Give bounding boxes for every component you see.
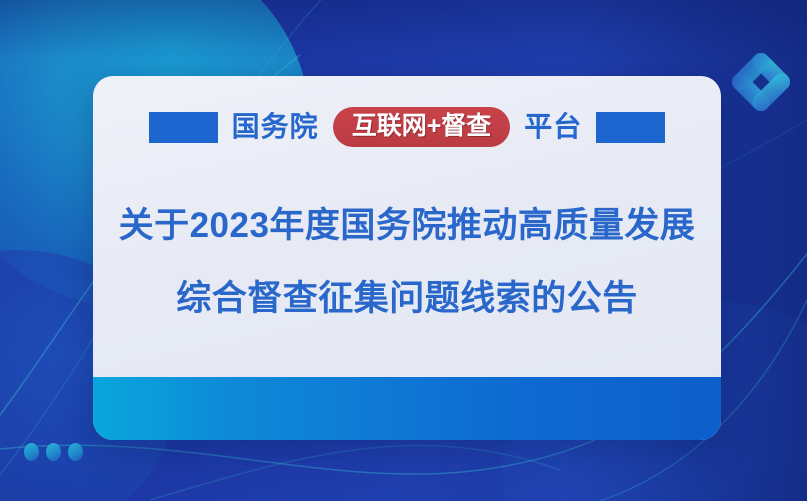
header-word-left: 国务院 [232, 113, 319, 141]
announcement-title-line-1: 关于2023年度国务院推动高质量发展 [93, 189, 721, 262]
dot-icon [68, 443, 83, 461]
card-footer-bar [93, 377, 721, 440]
header-left-bar [149, 112, 218, 143]
card-body: 国务院 互联网+督查 平台 关于2023年度国务院推动高质量发展 综合督查征集问… [93, 76, 721, 377]
badge-label: 互联网+督查 [352, 114, 492, 139]
announcement-title: 关于2023年度国务院推动高质量发展 综合督查征集问题线索的公告 [93, 189, 721, 335]
dot-icon [24, 443, 39, 461]
card-header-row: 国务院 互联网+督查 平台 [93, 107, 721, 147]
decorative-dots-group [24, 443, 83, 461]
announcement-card: 国务院 互联网+督查 平台 关于2023年度国务院推动高质量发展 综合督查征集问… [93, 76, 721, 440]
diamond-logo-icon [727, 48, 795, 116]
internet-supervision-badge: 互联网+督查 [333, 107, 511, 147]
announcement-title-line-2: 综合督查征集问题线索的公告 [93, 262, 721, 335]
banner-stage: 国务院 互联网+督查 平台 关于2023年度国务院推动高质量发展 综合督查征集问… [0, 0, 807, 501]
dot-icon [46, 443, 61, 461]
top-shade-overlay [0, 0, 807, 60]
header-word-right: 平台 [524, 113, 582, 141]
header-right-bar [596, 112, 665, 143]
